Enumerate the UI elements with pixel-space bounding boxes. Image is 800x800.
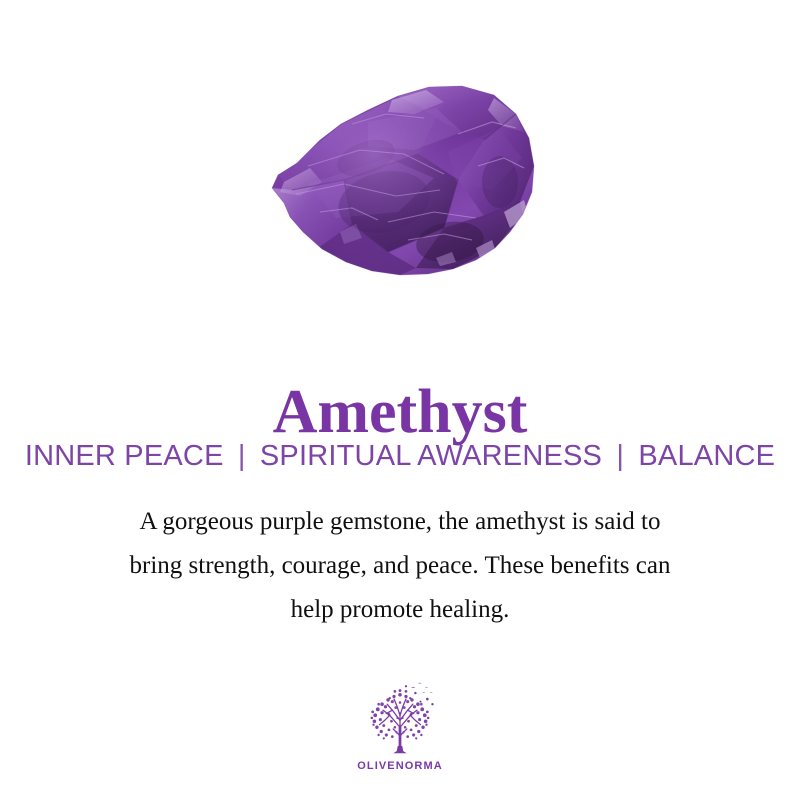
crystal-body — [248, 62, 548, 294]
description-line-3: help promote healing. — [60, 588, 740, 632]
tagline-separator-2: | — [610, 441, 630, 473]
tagline-keyword-spiritual-awareness: SPIRITUAL AWARENESS — [260, 441, 602, 473]
product-description: A gorgeous purple gemstone, the amethyst… — [60, 500, 740, 632]
amethyst-crystal-svg — [248, 62, 548, 294]
description-line-2: bring strength, courage, and peace. Thes… — [60, 544, 740, 588]
tagline-keyword-inner-peace: INNER PEACE — [25, 441, 224, 473]
brand-logo: OLIVENORMA — [0, 676, 800, 772]
tagline-separator-1: | — [232, 441, 252, 473]
product-info-card: Amethyst INNER PEACE | SPIRITUAL AWARENE… — [0, 0, 800, 800]
tree-stem — [399, 726, 402, 747]
tree-icon — [357, 676, 443, 758]
tagline-keyword-balance: BALANCE — [638, 441, 775, 473]
description-line-1: A gorgeous purple gemstone, the amethyst… — [60, 500, 740, 544]
tree-canopy — [371, 683, 434, 754]
page-title: Amethyst — [0, 380, 800, 445]
tagline: INNER PEACE | SPIRITUAL AWARENESS | BALA… — [0, 441, 800, 473]
tree-trunk — [393, 746, 407, 753]
bird-flock — [405, 683, 434, 706]
brand-wordmark: OLIVENORMA — [357, 760, 443, 772]
amethyst-crystal-image — [248, 62, 548, 294]
